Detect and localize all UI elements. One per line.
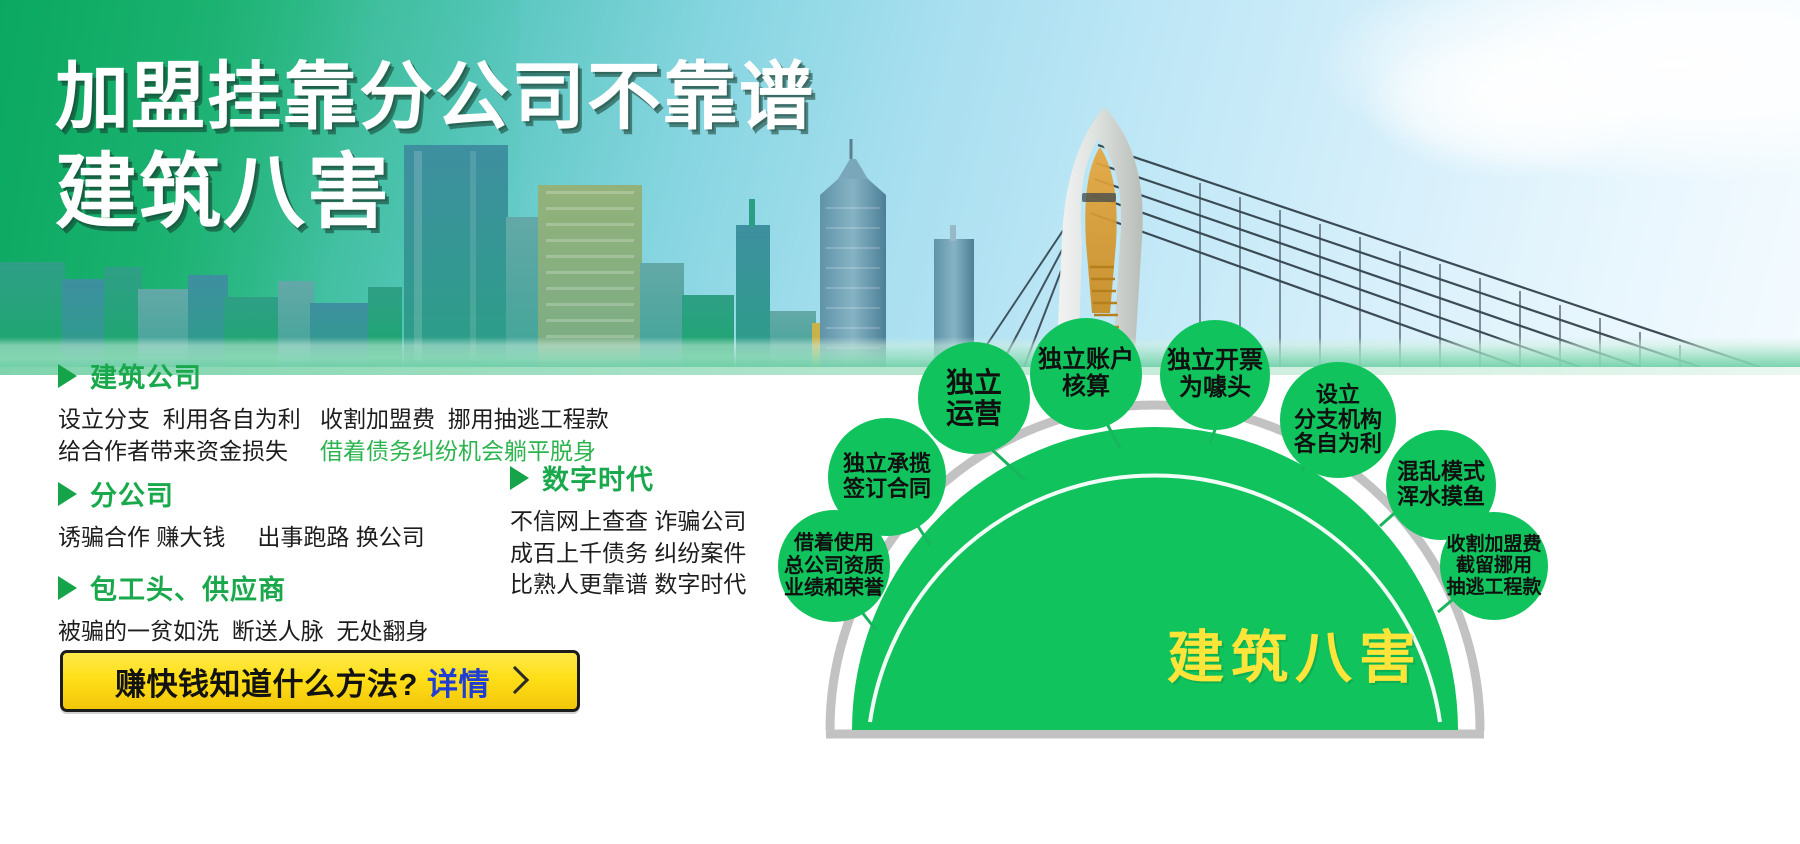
cta-button[interactable]: 赚快钱知道什么方法? 详情 <box>60 650 580 712</box>
bubble-text: 收割加盟费截留挪用抽逃工程款 <box>1446 534 1541 598</box>
triangle-bullet-icon <box>58 482 77 506</box>
section-line: 诱骗合作 赚大钱 出事跑路 换公司 <box>58 522 425 554</box>
bubble-text: 借着使用总公司资质业绩和荣誉 <box>784 532 884 599</box>
section-line: 比熟人更靠谱 数字时代 <box>510 569 746 601</box>
triangle-bullet-icon <box>510 466 529 490</box>
section-title: 建筑公司 <box>90 356 202 395</box>
section-line: 设立分支 利用各自为利 收割加盟费 挪用抽逃工程款 <box>58 404 609 436</box>
left-content-column: 建筑公司 设立分支 利用各自为利 收割加盟费 挪用抽逃工程款 给合作者带来资金损… <box>0 378 800 844</box>
section-line: 被骗的一贫如洗 断送人脉 无处翻身 <box>58 616 429 648</box>
hero-banner: 加盟挂靠分公司不靠谱 建筑八害 <box>0 0 1800 375</box>
bubble-franchise-fee-misuse[interactable]: 收割加盟费截留挪用抽逃工程款 <box>1440 512 1548 620</box>
section-digital-era: 数字时代 不信网上查查 诈骗公司 成百上千债务 纠纷案件 比熟人更靠谱 数字时代 <box>510 458 746 601</box>
section-construction-company: 建筑公司 设立分支 利用各自为利 收割加盟费 挪用抽逃工程款 给合作者带来资金损… <box>58 356 609 467</box>
triangle-bullet-icon <box>58 364 77 388</box>
section-title: 分公司 <box>90 474 174 513</box>
cta-main-label: 赚快钱知道什么方法? <box>115 659 418 704</box>
section-header: 包工头、供应商 <box>58 568 429 607</box>
bubble-text: 独立账户核算 <box>1038 347 1134 401</box>
section-contractor-supplier: 包工头、供应商 被骗的一贫如洗 断送人脉 无处翻身 <box>58 568 429 648</box>
bubble-text: 独立承揽签订合同 <box>843 452 931 501</box>
bubble-text: 独立运营 <box>946 367 1002 430</box>
section-branch-company: 分公司 诱骗合作 赚大钱 出事跑路 换公司 <box>58 474 425 554</box>
bubble-text: 混乱模式浑水摸鱼 <box>1397 460 1485 509</box>
section-header: 分公司 <box>58 474 425 513</box>
bubble-set-up-branches[interactable]: 设立分支机构各自为利 <box>1280 362 1396 478</box>
section-line: 不信网上查查 诈骗公司 <box>510 506 746 538</box>
chevron-right-icon <box>501 666 529 694</box>
section-header: 建筑公司 <box>58 356 609 395</box>
bubble-independent-invoicing[interactable]: 独立开票为噱头 <box>1160 320 1270 430</box>
section-line: 成百上千债务 纠纷案件 <box>510 538 746 570</box>
cta-detail-link[interactable]: 详情 <box>427 659 490 704</box>
bubble-independent-contracting[interactable]: 独立承揽签订合同 <box>828 418 946 536</box>
section-title: 包工头、供应商 <box>90 568 286 607</box>
triangle-bullet-icon <box>58 576 77 600</box>
hero-title-line1: 加盟挂靠分公司不靠谱 <box>55 58 815 136</box>
hero-title-line2: 建筑八害 <box>55 150 815 236</box>
bubble-text: 设立分支机构各自为利 <box>1294 383 1382 457</box>
bubble-independent-account[interactable]: 独立账户核算 <box>1030 318 1142 430</box>
eight-harms-diagram: 建筑八害 借着使用总公司资质业绩和荣誉 独立承揽签订合同 独立运营 独立账户核算… <box>790 330 1800 844</box>
section-line-text: 给合作者带来资金损失 <box>58 438 320 464</box>
bubble-text: 独立开票为噱头 <box>1167 348 1263 402</box>
bubble-independent-operation[interactable]: 独立运营 <box>918 342 1030 454</box>
dome-label: 建筑八害 <box>790 612 1800 694</box>
section-header: 数字时代 <box>510 458 746 497</box>
page-title: 加盟挂靠分公司不靠谱 建筑八害 <box>55 58 815 236</box>
section-title: 数字时代 <box>542 458 654 497</box>
